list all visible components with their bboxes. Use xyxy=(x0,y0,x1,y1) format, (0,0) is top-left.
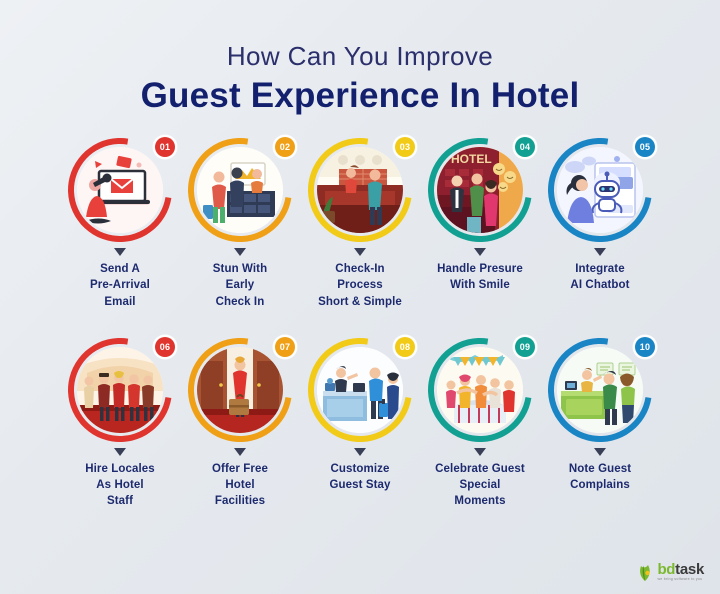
tip-illustration-integrate-ai-chatbot xyxy=(557,147,643,233)
tip-illustration-customize-guest-stay xyxy=(317,347,403,433)
tip-circle-09[interactable]: 09 xyxy=(428,338,532,442)
tip-circle-06[interactable]: 06 xyxy=(68,338,172,442)
tip-number-badge: 05 xyxy=(635,137,655,157)
down-arrow-icon xyxy=(474,248,486,256)
down-arrow-icon xyxy=(234,448,246,456)
complaint-desk-icon xyxy=(557,347,643,433)
tip-circle-08[interactable]: 08 xyxy=(308,338,412,442)
page-title: Guest Experience In Hotel xyxy=(0,76,720,116)
tip-item-10[interactable]: 10Note Guest Complains xyxy=(547,338,654,494)
tip-item-08[interactable]: 08Customize Guest Stay xyxy=(307,338,414,494)
tip-item-07[interactable]: 07Offer Free Hotel Facilities xyxy=(187,338,294,510)
tip-illustration-note-guest-complains xyxy=(557,347,643,433)
infographic-canvas: How Can You Improve Guest Experience In … xyxy=(0,0,720,594)
down-arrow-icon xyxy=(234,248,246,256)
down-arrow-icon xyxy=(474,448,486,456)
down-arrow-icon xyxy=(114,248,126,256)
tip-circle-04[interactable]: HOTEL 04 xyxy=(428,138,532,242)
tip-number-badge: 04 xyxy=(515,137,535,157)
svg-text:HOTEL: HOTEL xyxy=(451,152,492,166)
tip-label: Integrate AI Chatbot xyxy=(570,261,629,294)
customize-counter-icon xyxy=(317,347,403,433)
logo-tagline: we bring software to you xyxy=(657,578,704,582)
tip-label: Check-In Process Short & Simple xyxy=(318,261,402,310)
tip-circle-03[interactable]: 03 xyxy=(308,138,412,242)
heading-block: How Can You Improve Guest Experience In … xyxy=(0,0,720,116)
tip-item-03[interactable]: 03Check-In Process Short & Simple xyxy=(307,138,414,310)
leaf-icon xyxy=(637,562,653,582)
tip-circle-01[interactable]: 01 xyxy=(68,138,172,242)
down-arrow-icon xyxy=(354,248,366,256)
front-desk-smile-icon: HOTEL xyxy=(437,147,523,233)
logo-wordmark: bdtask xyxy=(657,562,704,577)
email-laptop-icon xyxy=(77,147,163,233)
tip-illustration-hire-locales-as-hotel-staff xyxy=(77,347,163,433)
hotel-corridor-icon xyxy=(197,347,283,433)
tip-number-badge: 06 xyxy=(155,337,175,357)
tip-label: Stun With Early Check In xyxy=(213,261,267,310)
tip-item-09[interactable]: 09Celebrate Guest Special Moments xyxy=(427,338,534,510)
tip-item-02[interactable]: 02Stun With Early Check In xyxy=(187,138,294,310)
tip-item-01[interactable]: 01Send A Pre-Arrival Email xyxy=(67,138,174,310)
down-arrow-icon xyxy=(594,448,606,456)
tip-circle-07[interactable]: 07 xyxy=(188,338,292,442)
tip-illustration-handle-presure-with-smile: HOTEL xyxy=(437,147,523,233)
tip-circle-05[interactable]: 05 xyxy=(548,138,652,242)
tip-number-badge: 07 xyxy=(275,337,295,357)
tip-illustration-celebrate-guest-special-moments xyxy=(437,347,523,433)
tip-number-badge: 02 xyxy=(275,137,295,157)
tip-label: Offer Free Hotel Facilities xyxy=(212,461,268,510)
tip-item-05[interactable]: 05Integrate AI Chatbot xyxy=(547,138,654,294)
down-arrow-icon xyxy=(114,448,126,456)
ai-chatbot-icon xyxy=(557,147,643,233)
tip-illustration-send-a-pre-arrival-email xyxy=(77,147,163,233)
brand-logo: bdtask we bring software to you xyxy=(637,562,704,582)
tip-number-badge: 10 xyxy=(635,337,655,357)
tip-illustration-offer-free-hotel-facilities xyxy=(197,347,283,433)
items-grid: 01Send A Pre-Arrival Email 02Stun With E… xyxy=(0,138,720,510)
tip-item-04[interactable]: HOTEL 04Handle Presure With Smile xyxy=(427,138,534,294)
tip-illustration-check-in-process-short-simple xyxy=(317,147,403,233)
logo-bd: bd xyxy=(657,561,675,578)
tip-label: Send A Pre-Arrival Email xyxy=(90,261,150,310)
tip-label: Hire Locales As Hotel Staff xyxy=(85,461,155,510)
tip-circle-10[interactable]: 10 xyxy=(548,338,652,442)
down-arrow-icon xyxy=(594,248,606,256)
logo-text: bdtask we bring software to you xyxy=(657,562,704,582)
tip-item-06[interactable]: 06Hire Locales As Hotel Staff xyxy=(67,338,174,510)
items-row-2: 06Hire Locales As Hotel Staff 07Offer Fr… xyxy=(0,338,720,510)
tip-number-badge: 03 xyxy=(395,137,415,157)
reception-desk-icon xyxy=(317,147,403,233)
tip-number-badge: 09 xyxy=(515,337,535,357)
early-checkin-icon xyxy=(197,147,283,233)
tip-label: Handle Presure With Smile xyxy=(437,261,523,294)
logo-task: task xyxy=(675,561,704,578)
celebration-icon xyxy=(437,347,523,433)
tip-illustration-stun-with-early-check-in xyxy=(197,147,283,233)
tip-label: Customize Guest Stay xyxy=(329,461,390,494)
tip-label: Celebrate Guest Special Moments xyxy=(435,461,525,510)
down-arrow-icon xyxy=(354,448,366,456)
local-staff-icon xyxy=(77,347,163,433)
page-subtitle: How Can You Improve xyxy=(0,42,720,71)
tip-label: Note Guest Complains xyxy=(569,461,631,494)
tip-circle-02[interactable]: 02 xyxy=(188,138,292,242)
tip-number-badge: 01 xyxy=(155,137,175,157)
items-row-1: 01Send A Pre-Arrival Email 02Stun With E… xyxy=(0,138,720,310)
tip-number-badge: 08 xyxy=(395,337,415,357)
